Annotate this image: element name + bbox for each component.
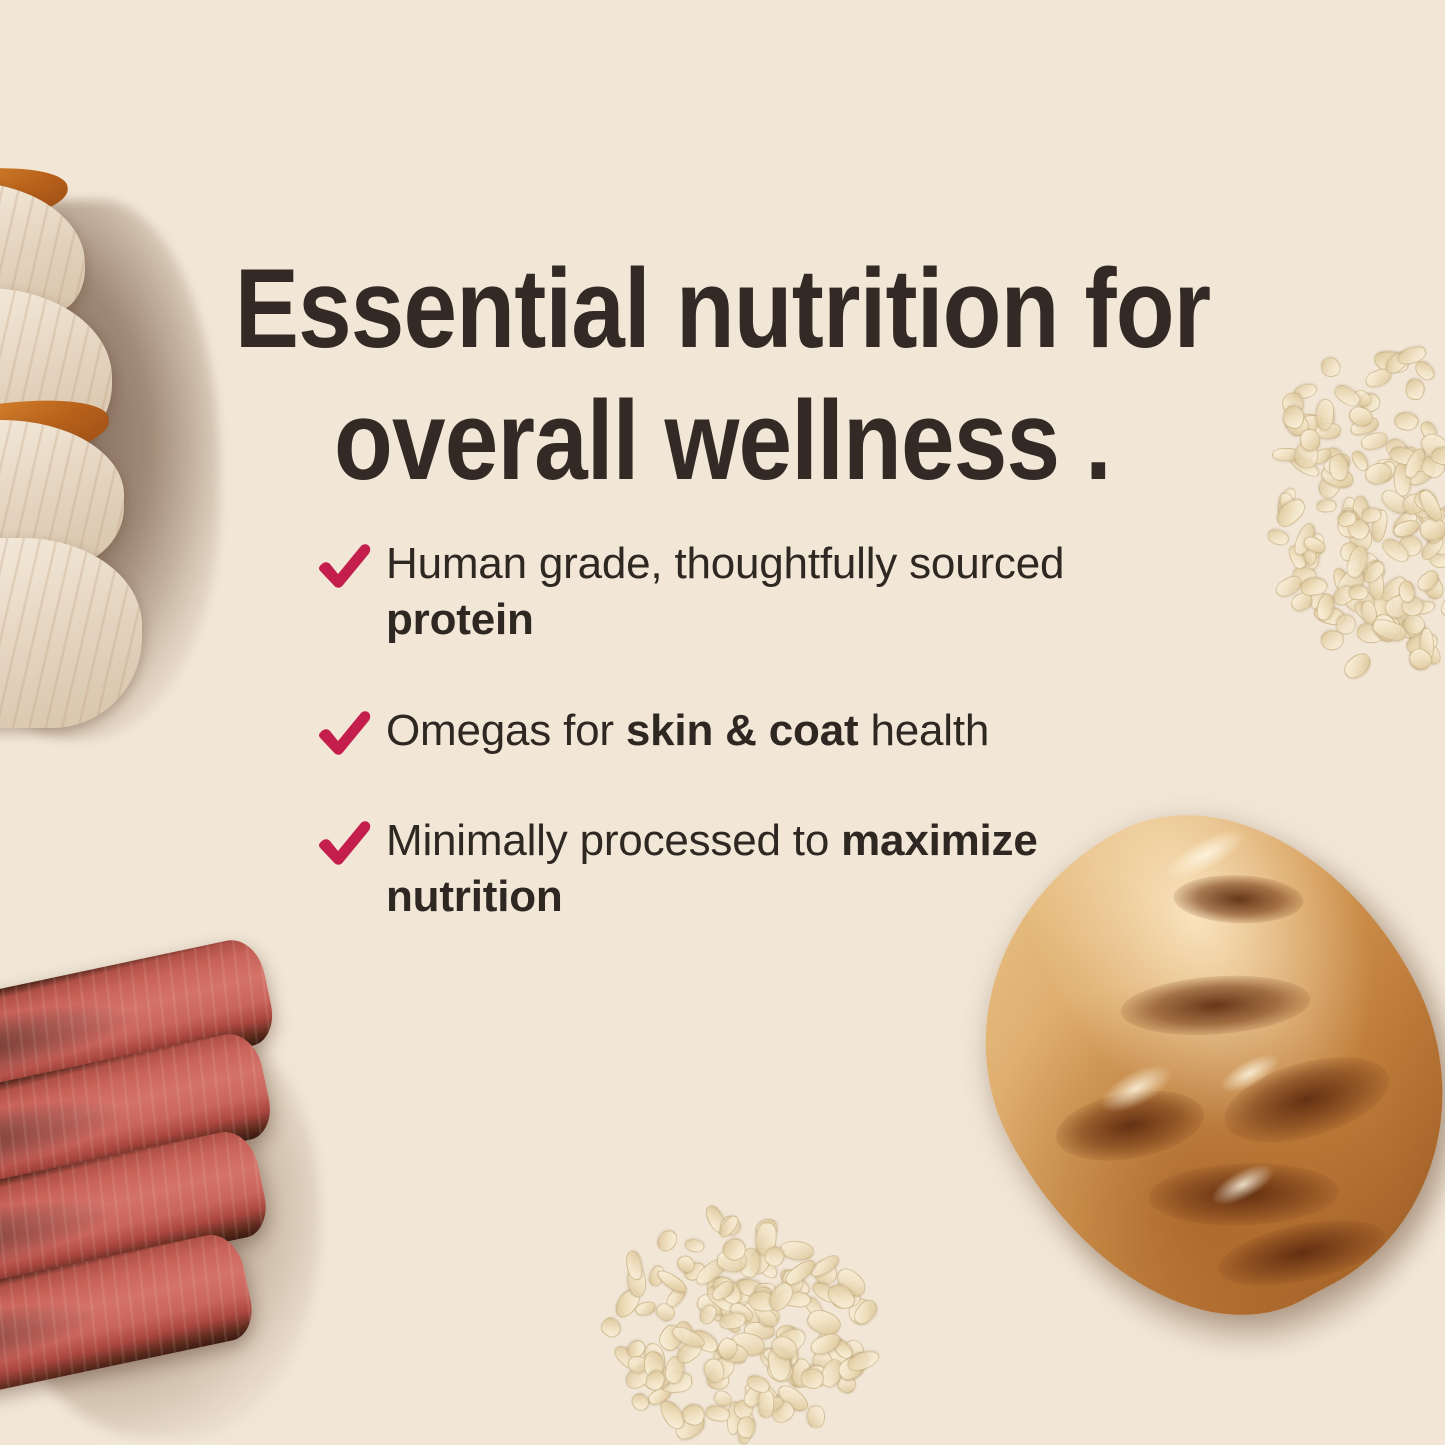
sliced-beef-steak-image bbox=[0, 978, 370, 1445]
check-icon bbox=[316, 540, 372, 592]
promo-banner: Essential nutrition for overall wellness… bbox=[0, 0, 1445, 1445]
oat-flake bbox=[1393, 410, 1421, 433]
oat-flake bbox=[1266, 528, 1291, 548]
oat-flake bbox=[704, 1403, 732, 1423]
oat-flake bbox=[628, 1390, 652, 1414]
oat-flake bbox=[1404, 378, 1425, 401]
benefit-item: Human grade, thoughtfully sourced protei… bbox=[316, 534, 1176, 649]
oat-flake bbox=[1419, 517, 1445, 540]
oat-flake bbox=[1340, 649, 1375, 683]
benefit-text: Omegas for skin & coat health bbox=[386, 701, 989, 759]
check-icon bbox=[316, 707, 372, 759]
benefit-item: Minimally processed to maximize nutritio… bbox=[316, 811, 1176, 926]
oat-flake bbox=[597, 1314, 624, 1341]
benefit-list: Human grade, thoughtfully sourced protei… bbox=[316, 534, 1176, 926]
headline-line-2: overall wellness . bbox=[101, 375, 1344, 507]
oat-flake bbox=[684, 1237, 705, 1253]
benefit-item: Omegas for skin & coat health bbox=[316, 701, 1176, 759]
benefit-text: Human grade, thoughtfully sourced protei… bbox=[386, 534, 1176, 649]
check-icon bbox=[316, 817, 372, 869]
page-title: Essential nutrition for overall wellness… bbox=[101, 243, 1344, 507]
rolled-oats-scatter-image bbox=[510, 1070, 950, 1445]
oat-flake bbox=[807, 1405, 825, 1428]
oat-flake bbox=[759, 1389, 775, 1418]
oat-flake bbox=[654, 1227, 681, 1255]
oat-flake bbox=[1336, 614, 1357, 635]
headline-line-1: Essential nutrition for bbox=[235, 246, 1211, 371]
benefit-text: Minimally processed to maximize nutritio… bbox=[386, 811, 1176, 926]
oat-flake bbox=[1391, 517, 1421, 539]
